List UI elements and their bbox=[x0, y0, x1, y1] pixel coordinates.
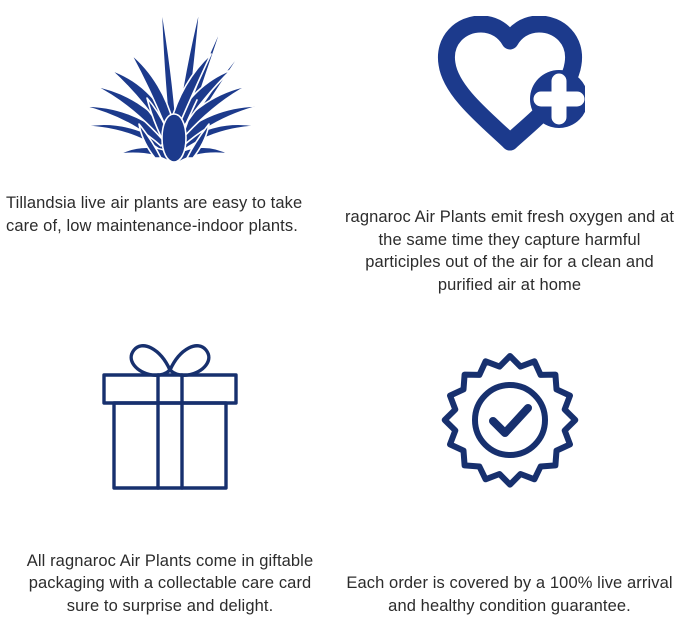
air-plant-icon bbox=[77, 2, 263, 172]
gift-box-icon bbox=[90, 330, 250, 500]
feature-panel-air-plant-care: Tillandsia live air plants are easy to t… bbox=[0, 0, 340, 308]
feature-panel-giftable-packaging: All ragnaroc Air Plants come in giftable… bbox=[0, 308, 340, 617]
panel-text-giftable-packaging: All ragnaroc Air Plants come in giftable… bbox=[0, 550, 340, 617]
verified-badge-icon bbox=[440, 350, 580, 490]
feature-panel-live-arrival-guarantee: Each order is covered by a 100% live arr… bbox=[340, 308, 679, 617]
verified-badge-icon-wrap bbox=[340, 308, 679, 532]
feature-grid: Tillandsia live air plants are easy to t… bbox=[0, 0, 679, 617]
gift-box-icon-wrap bbox=[0, 308, 340, 532]
heart-plus-icon bbox=[435, 16, 585, 158]
panel-text-air-plant-care: Tillandsia live air plants are easy to t… bbox=[0, 192, 340, 237]
panel-text-air-purifying: ragnaroc Air Plants emit fresh oxygen an… bbox=[340, 206, 679, 296]
air-plant-icon-wrap bbox=[0, 0, 340, 177]
feature-panel-air-purifying: ragnaroc Air Plants emit fresh oxygen an… bbox=[340, 0, 679, 308]
panel-text-live-arrival-guarantee: Each order is covered by a 100% live arr… bbox=[340, 572, 679, 617]
heart-plus-icon-wrap bbox=[340, 0, 679, 191]
